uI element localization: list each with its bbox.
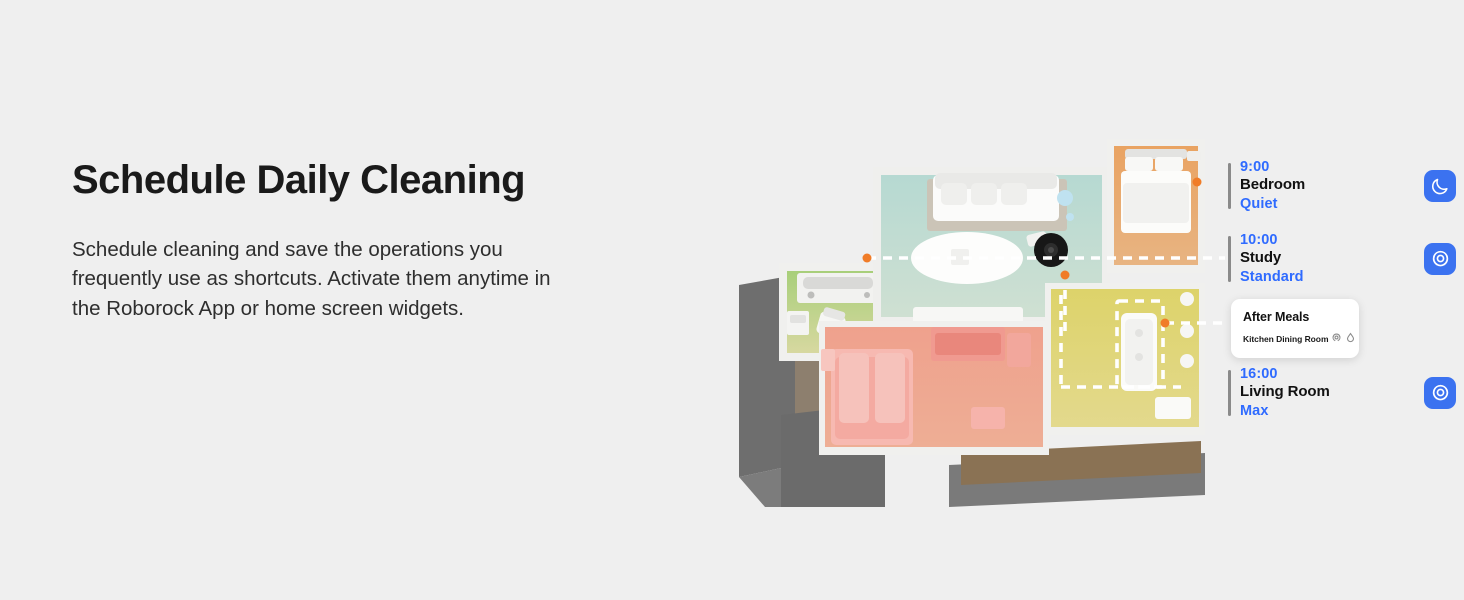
entry-room: Study xyxy=(1240,249,1281,266)
entry-mode: Quiet xyxy=(1240,196,1278,212)
entry-accent-bar xyxy=(1228,370,1231,416)
vacuum-badge-icon xyxy=(1331,330,1342,348)
entry-time: 9:00 xyxy=(1240,159,1269,175)
entry-text: 9:00 Bedroom Quiet xyxy=(1240,158,1418,213)
schedule-entry-living-room[interactable]: 16:00 Living Room Max xyxy=(1228,365,1456,420)
entry-accent-bar xyxy=(1228,163,1231,209)
entry-time: 10:00 xyxy=(1240,232,1278,248)
entry-mode: Max xyxy=(1240,403,1269,419)
room-kitchen-dining xyxy=(1045,283,1205,435)
entry-accent-bar xyxy=(1228,236,1231,282)
entry-room: Bedroom xyxy=(1240,176,1305,193)
suction-swirl-icon[interactable] xyxy=(1424,377,1456,409)
schedule-entry-study[interactable]: 10:00 Study Standard xyxy=(1228,231,1456,286)
entry-mode: Standard xyxy=(1240,269,1304,285)
page-title: Schedule Daily Cleaning xyxy=(72,158,592,203)
room-master-bedroom xyxy=(819,321,1049,455)
shortcut-detail-row: Kitchen Dining Room xyxy=(1243,330,1347,348)
promo-banner: Schedule Daily Cleaning Schedule cleanin… xyxy=(0,0,1464,600)
room-bedroom xyxy=(1107,139,1205,273)
shortcut-card[interactable]: After Meals Kitchen Dining Room xyxy=(1231,299,1359,358)
body-text: Schedule cleaning and save the operation… xyxy=(72,235,582,324)
suction-swirl-icon[interactable] xyxy=(1424,243,1456,275)
entry-time: 16:00 xyxy=(1240,366,1278,382)
mop-badge-icon xyxy=(1345,330,1356,348)
entry-room: Living Room xyxy=(1240,383,1330,400)
entry-text: 16:00 Living Room Max xyxy=(1240,365,1418,420)
floorplan-illustration xyxy=(735,135,1225,510)
crescent-moon-icon[interactable] xyxy=(1424,170,1456,202)
entry-text: 10:00 Study Standard xyxy=(1240,231,1418,286)
shortcut-rooms: Kitchen Dining Room xyxy=(1243,334,1328,344)
schedule-entry-bedroom[interactable]: 9:00 Bedroom Quiet xyxy=(1228,158,1456,213)
shortcut-title: After Meals xyxy=(1243,310,1347,325)
copy-block: Schedule Daily Cleaning Schedule cleanin… xyxy=(72,158,592,323)
